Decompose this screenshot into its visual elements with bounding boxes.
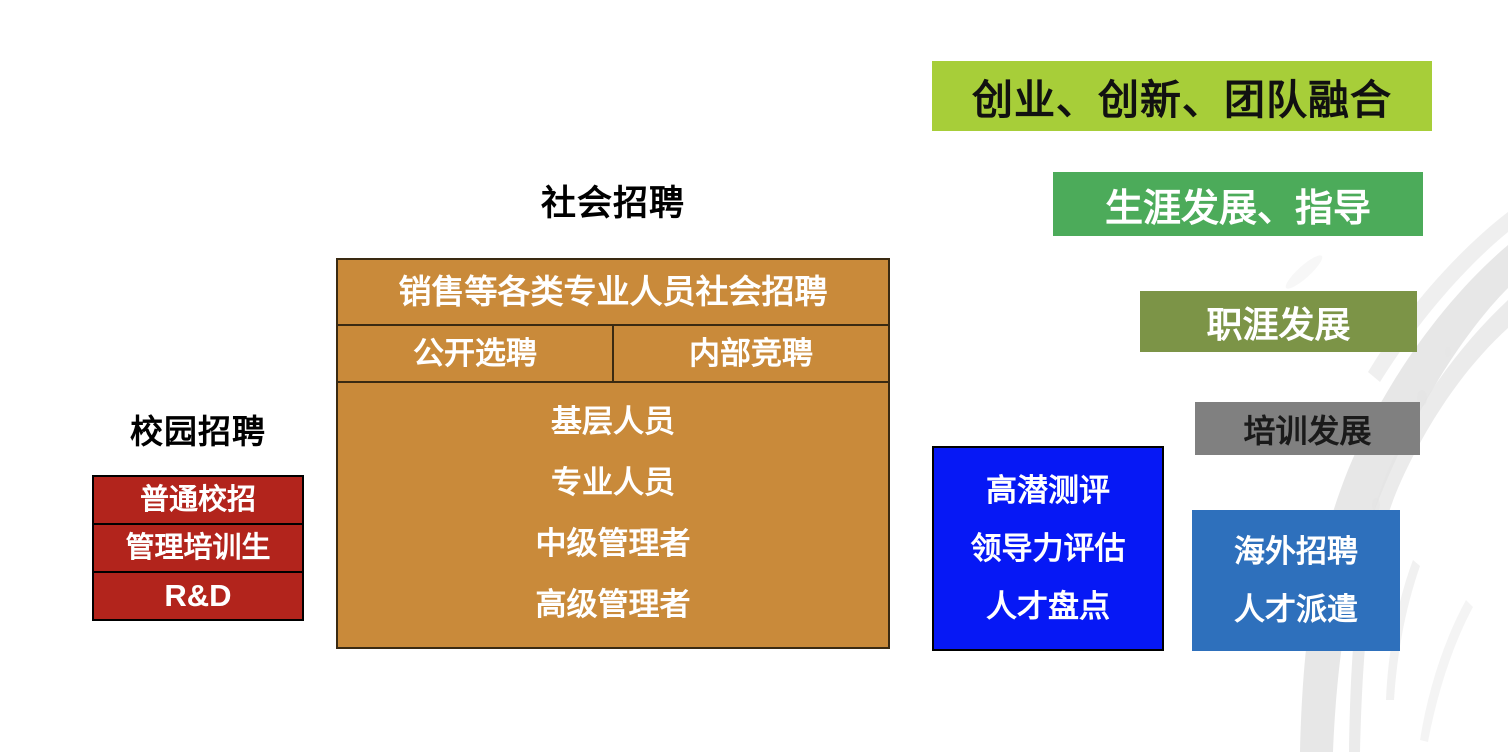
table-body-cell: 基层人员 专业人员 中级管理者 高级管理者 <box>338 383 888 647</box>
list-item: 中级管理者 <box>338 513 888 574</box>
social-recruitment-table: 销售等各类专业人员社会招聘 公开选聘 内部竞聘 基层人员 专业人员 中级管理者 … <box>336 258 890 649</box>
table-header-row[interactable]: 销售等各类专业人员社会招聘 <box>338 260 888 326</box>
list-item: 高级管理者 <box>338 574 888 635</box>
table-row[interactable]: 普通校招 <box>94 477 302 523</box>
list-item: 领导力评估 <box>971 520 1126 578</box>
social-recruitment-title: 社会招聘 <box>336 175 890 226</box>
list-item: 人才盘点 <box>986 578 1110 636</box>
table-cell-internal-competition[interactable]: 内部竞聘 <box>612 326 888 381</box>
table-row[interactable]: R&D <box>94 571 302 619</box>
campus-recruitment-title: 校园招聘 <box>92 405 304 453</box>
table-split-row: 公开选聘 内部竞聘 <box>338 326 888 383</box>
table-row[interactable]: 管理培训生 <box>94 523 302 571</box>
banner-career-path-development[interactable]: 职涯发展 <box>1140 291 1417 352</box>
talent-assessment-box[interactable]: 高潜测评 领导力评估 人才盘点 <box>932 446 1164 651</box>
list-item: 高潜测评 <box>986 462 1110 520</box>
list-item: 基层人员 <box>338 391 888 452</box>
list-item: 海外招聘 <box>1234 523 1358 581</box>
overseas-recruitment-box[interactable]: 海外招聘 人才派遣 <box>1192 510 1400 651</box>
slide-canvas: 校园招聘 普通校招 管理培训生 R&D 社会招聘 销售等各类专业人员社会招聘 公… <box>0 0 1508 752</box>
banner-entrepreneurship-innovation-team[interactable]: 创业、创新、团队融合 <box>932 61 1432 131</box>
campus-recruitment-table: 普通校招 管理培训生 R&D <box>92 475 304 621</box>
list-item: 专业人员 <box>338 452 888 513</box>
list-item: 人才派遣 <box>1234 581 1358 639</box>
banner-training-development[interactable]: 培训发展 <box>1195 402 1420 455</box>
banner-career-development-guidance[interactable]: 生涯发展、指导 <box>1053 172 1423 236</box>
table-cell-open-selection[interactable]: 公开选聘 <box>338 326 612 381</box>
